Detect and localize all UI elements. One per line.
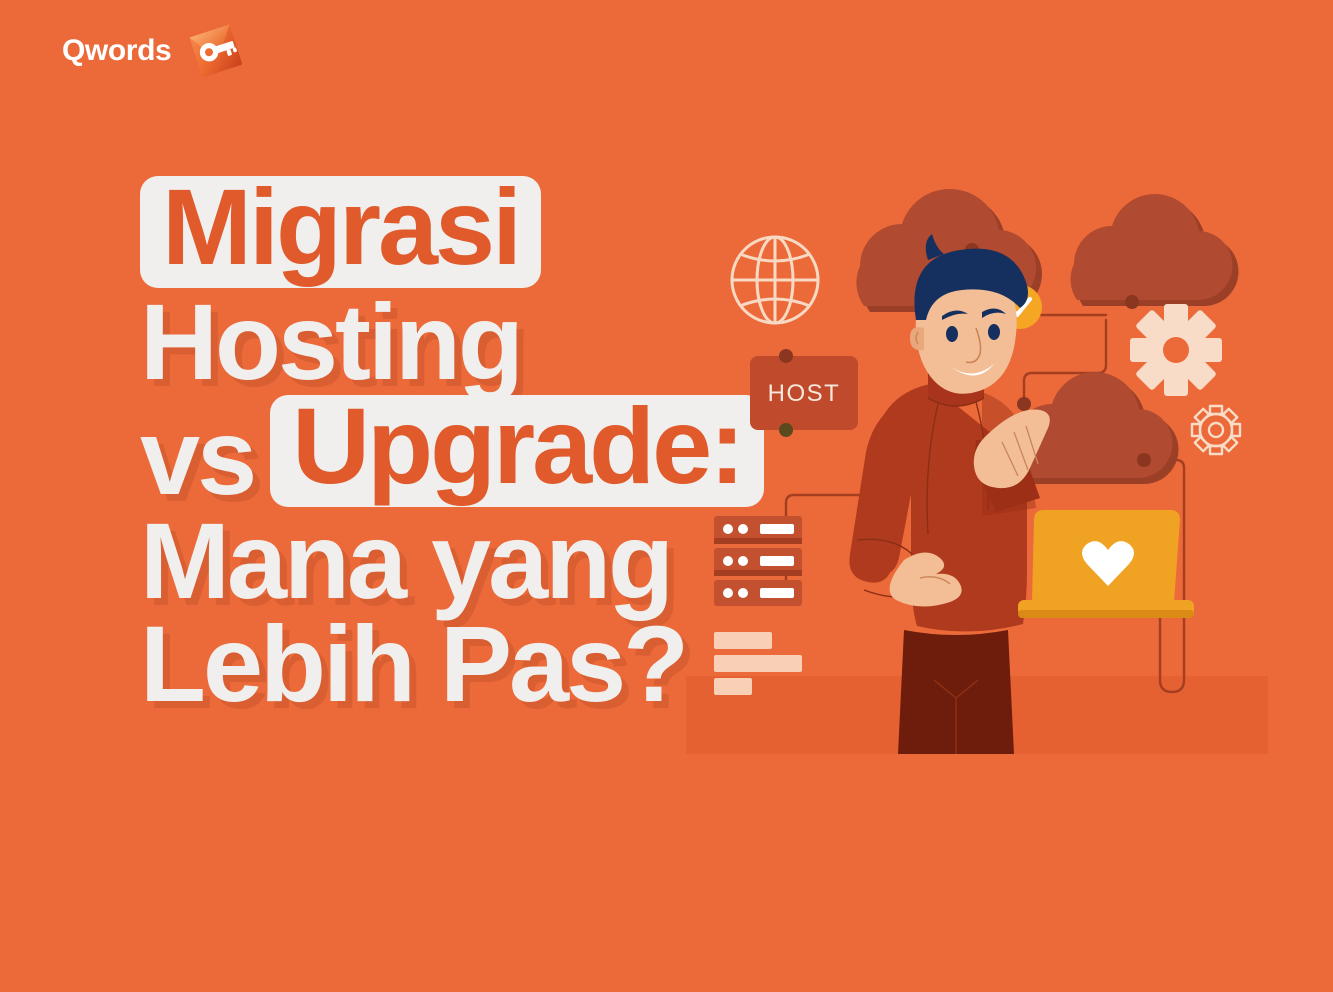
headline-line-4: Mana yang <box>140 511 680 611</box>
key-diamond-logo-icon <box>185 20 247 82</box>
headline-mana-yang: Mana yang <box>140 511 680 611</box>
brand-logo: Qwords <box>62 20 247 82</box>
cloud-icon-top-right <box>1071 194 1239 309</box>
page-title: Migrasi Hosting vs Upgrade: Mana yang Le… <box>140 176 680 714</box>
headline-hosting: Hosting <box>140 292 680 392</box>
brand-name: Qwords <box>62 36 171 66</box>
headline-migrasi: Migrasi <box>140 176 541 288</box>
headline-vs: vs <box>140 407 254 507</box>
laptop-icon <box>1018 510 1194 618</box>
headline-line-5: Lebih Pas? <box>140 614 680 714</box>
headline-line-2: Hosting <box>140 292 680 392</box>
hosting-migration-illustration: HOST <box>676 160 1276 780</box>
host-box-label: HOST <box>768 380 841 407</box>
poster-canvas: Qwords <box>0 0 1333 992</box>
gear-icon-small <box>1192 406 1240 454</box>
headline-line-3: vs Upgrade: <box>140 395 680 507</box>
headline-line-1: Migrasi <box>140 176 680 288</box>
globe-icon <box>732 237 818 323</box>
gear-icon-large <box>1130 304 1222 396</box>
headline-lebih-pas: Lebih Pas? <box>140 614 680 714</box>
server-rack-icon <box>714 516 802 606</box>
